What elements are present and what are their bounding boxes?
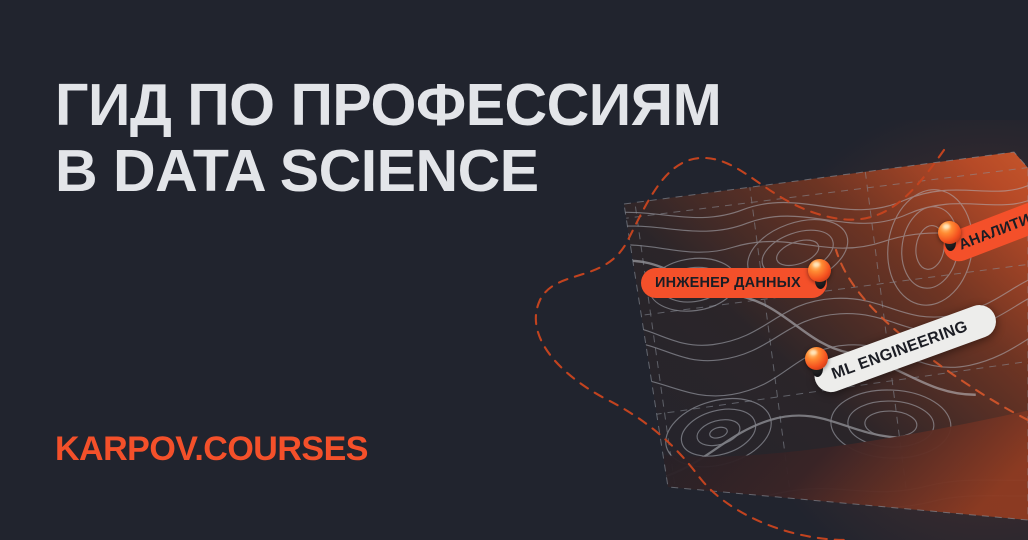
pin-sphere bbox=[808, 259, 831, 282]
promo-banner: ГИД ПО ПРОФЕССИЯМ В DATA SCIENCE KARPOV.… bbox=[0, 0, 1028, 540]
page-title: ГИД ПО ПРОФЕССИЯМ В DATA SCIENCE bbox=[55, 72, 721, 204]
pin-sphere bbox=[805, 347, 828, 370]
map-pin-icon-data-engineer[interactable] bbox=[808, 259, 834, 293]
pin-sphere bbox=[938, 221, 961, 244]
brand-logo: KARPOV.COURSES bbox=[55, 430, 368, 469]
map-pin-icon-data-analyst[interactable] bbox=[938, 221, 964, 255]
map-pin-icon-ml-engineering[interactable] bbox=[805, 347, 831, 381]
map-label-text: ИНЖЕНЕР ДАННЫХ bbox=[655, 275, 801, 291]
map-label-data-engineer[interactable]: ИНЖЕНЕР ДАННЫХ bbox=[641, 268, 827, 298]
